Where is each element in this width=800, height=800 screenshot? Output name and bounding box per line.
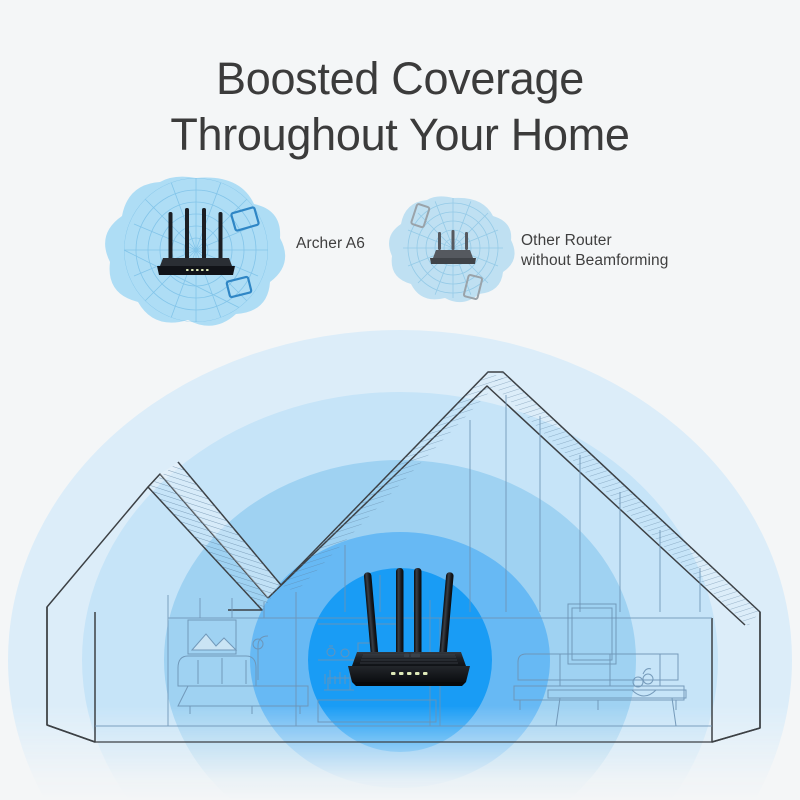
router-top-deck: [352, 652, 466, 666]
coverage-rings: [8, 330, 792, 800]
marketing-image: Boosted Coverage Throughout Your Home Ar…: [0, 0, 800, 800]
router-base: [352, 682, 466, 686]
comparison-diagram-other-router: [389, 196, 515, 302]
headline-line-1: Boosted Coverage: [0, 52, 800, 105]
polar-grid-left: [124, 178, 268, 322]
comparison-diagram-archer-a6: [105, 177, 285, 326]
comparison-label-other-router: Other Router without Beamforming: [521, 231, 669, 271]
comparison-label-archer-a6: Archer A6: [296, 234, 365, 254]
headline-line-2: Throughout Your Home: [0, 108, 800, 161]
tp-link-logo: [404, 654, 420, 658]
